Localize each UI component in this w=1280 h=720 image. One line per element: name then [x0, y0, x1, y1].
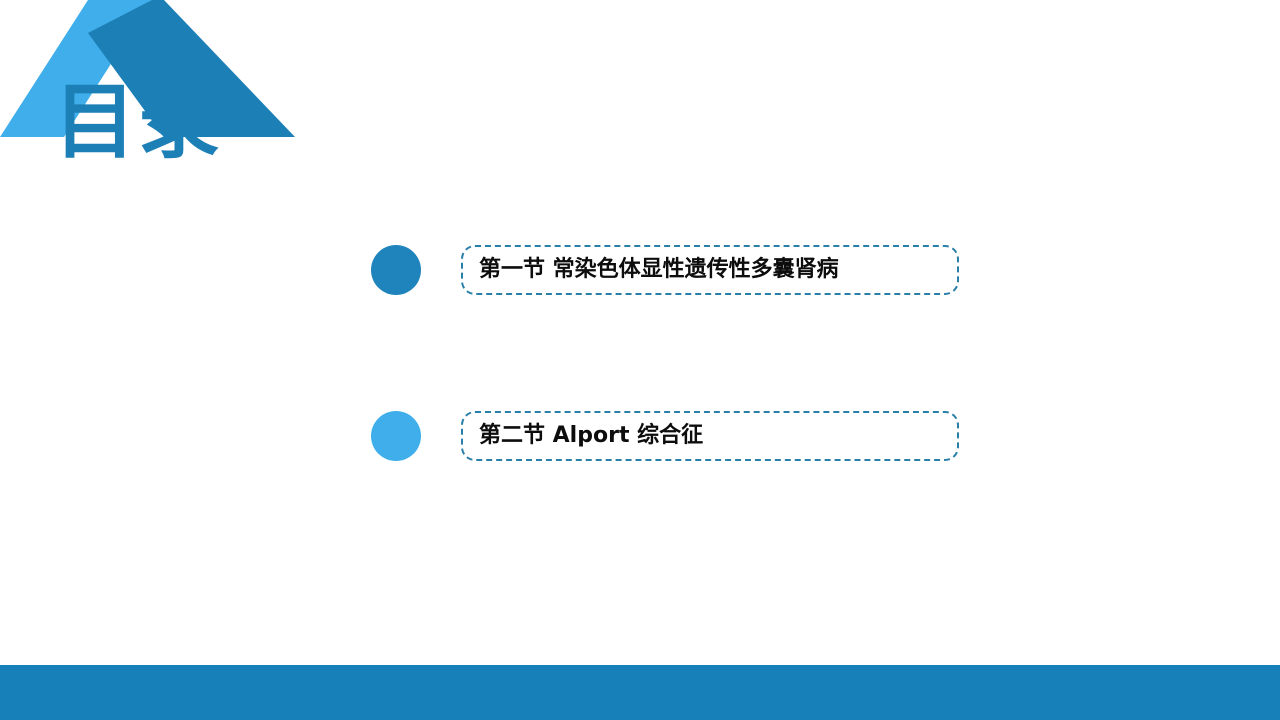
slide-canvas: 目录 第一节 常染色体显性遗传性多囊肾病 第二节 Alport 综合征: [0, 0, 1280, 720]
bullet-circle-icon: [371, 245, 421, 295]
bullet-circle-icon: [371, 411, 421, 461]
list-item[interactable]: 第二节 Alport 综合征: [371, 409, 971, 463]
agenda-item-box-2[interactable]: 第二节 Alport 综合征: [461, 411, 959, 461]
page-title: 目录: [54, 78, 222, 168]
slide-header: 目录: [0, 0, 300, 180]
agenda-item-label: 第一节 常染色体显性遗传性多囊肾病: [479, 258, 839, 282]
agenda-item-box-1[interactable]: 第一节 常染色体显性遗传性多囊肾病: [461, 245, 959, 295]
list-item[interactable]: 第一节 常染色体显性遗传性多囊肾病: [371, 243, 971, 297]
agenda-list: 第一节 常染色体显性遗传性多囊肾病 第二节 Alport 综合征: [371, 243, 971, 463]
footer-bar: [0, 665, 1280, 720]
agenda-item-label: 第二节 Alport 综合征: [479, 424, 703, 448]
